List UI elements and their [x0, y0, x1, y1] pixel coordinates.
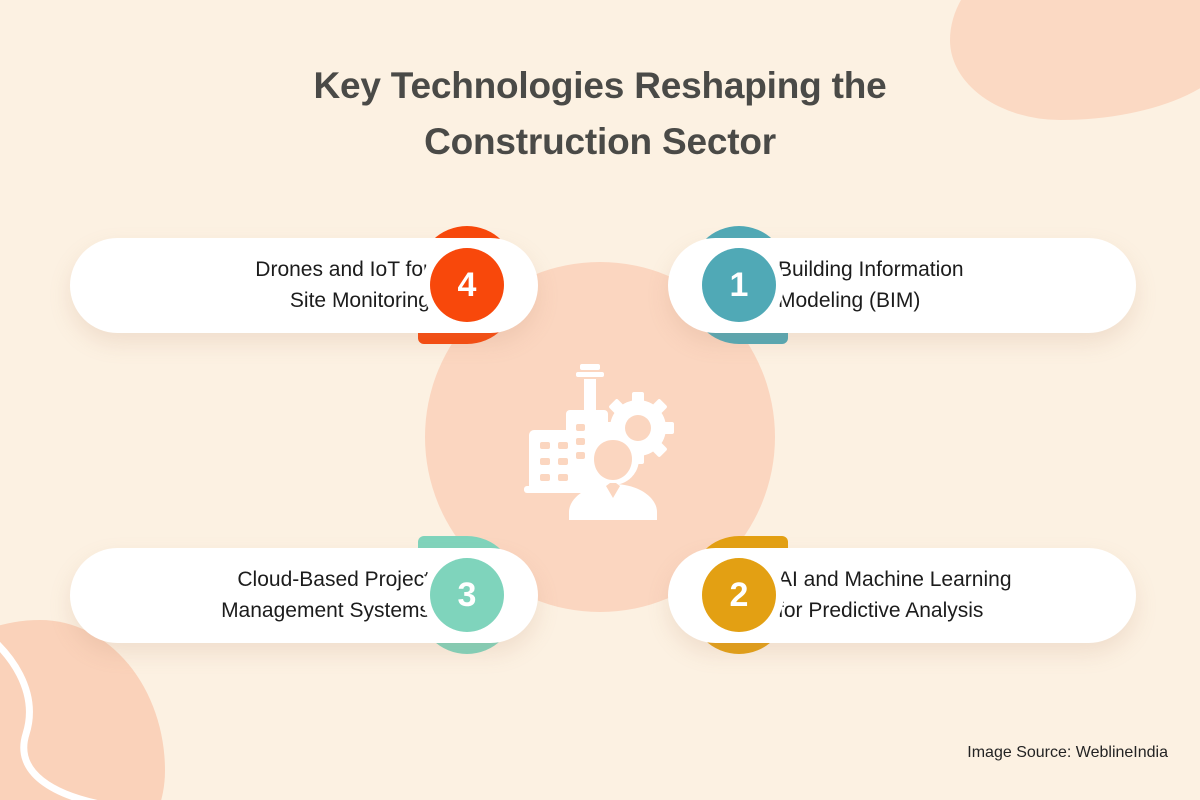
decorative-blob-bottom-left — [0, 620, 165, 800]
page-title: Key Technologies Reshaping the Construct… — [0, 58, 1200, 170]
card-label-1: Building Information Modeling (BIM) — [778, 255, 1108, 316]
card-label-2-line-1: AI and Machine Learning — [778, 565, 1108, 595]
card-label-3-line-1: Cloud-Based Project — [100, 565, 430, 595]
construction-engineer-buildings-gear-icon — [518, 358, 684, 524]
card-top-right[interactable]: Building Information Modeling (BIM) 1 — [668, 238, 1136, 333]
badge-number-3: 3 — [430, 558, 504, 632]
title-line-2: Construction Sector — [0, 114, 1200, 170]
infographic-canvas: Key Technologies Reshaping the Construct… — [0, 0, 1200, 800]
card-bottom-left[interactable]: Cloud-Based Project Management Systems 3 — [70, 548, 538, 643]
badge-number-4: 4 — [430, 248, 504, 322]
card-label-4: Drones and IoT for Site Monitoring — [100, 255, 430, 316]
card-top-left[interactable]: Drones and IoT for Site Monitoring 4 — [70, 238, 538, 333]
card-label-1-line-1: Building Information — [778, 255, 1108, 285]
card-label-4-line-2: Site Monitoring — [100, 286, 430, 316]
card-label-1-line-2: Modeling (BIM) — [778, 286, 1108, 316]
badge-number-1: 1 — [702, 248, 776, 322]
image-source-credit: Image Source: WeblineIndia — [967, 744, 1168, 762]
card-label-2-line-2: for Predictive Analysis — [778, 596, 1108, 626]
title-line-1: Key Technologies Reshaping the — [0, 58, 1200, 114]
card-label-2: AI and Machine Learning for Predictive A… — [778, 565, 1108, 626]
badge-number-2: 2 — [702, 558, 776, 632]
card-bottom-right[interactable]: AI and Machine Learning for Predictive A… — [668, 548, 1136, 643]
card-label-3: Cloud-Based Project Management Systems — [100, 565, 430, 626]
card-label-3-line-2: Management Systems — [100, 596, 430, 626]
card-label-4-line-1: Drones and IoT for — [100, 255, 430, 285]
